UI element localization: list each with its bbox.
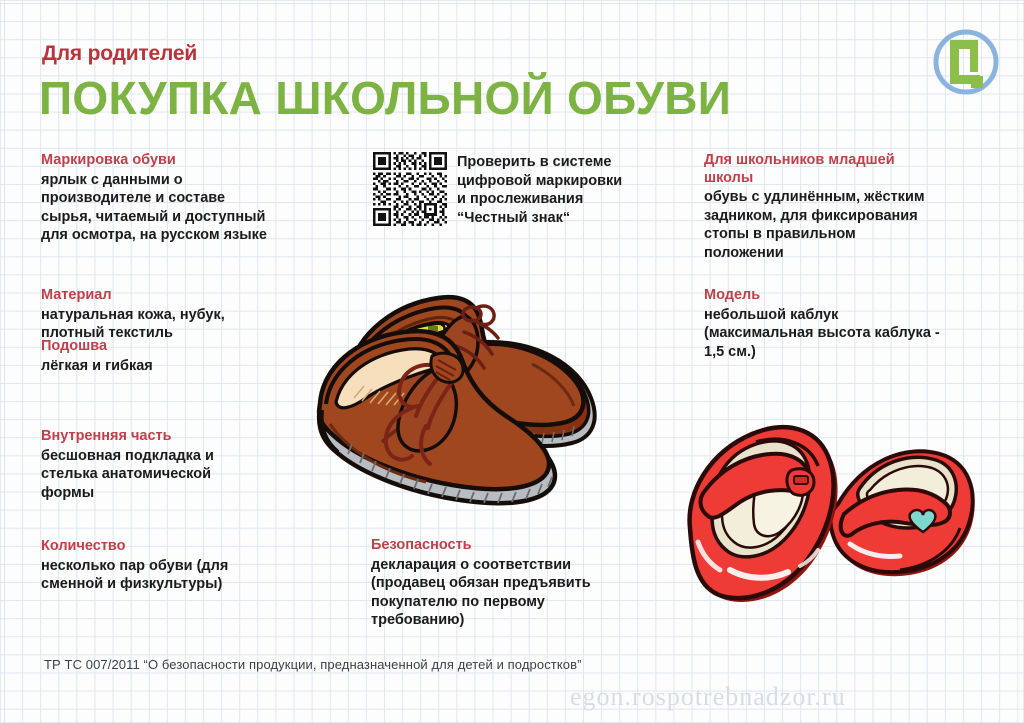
block-inner-part-body: бесшовная подкладка и стелька анатомичес…	[41, 447, 296, 503]
block-sole: Подошва лёгкая и гибкая	[41, 338, 306, 375]
block-model-title: Модель	[704, 287, 1004, 305]
block-safety-body: декларация о соответствии (продавец обяз…	[371, 556, 671, 630]
kicker-text: Для родителей	[42, 42, 197, 66]
block-quantity-body: несколько пар обуви (для сменной и физку…	[41, 557, 311, 594]
block-quantity: Количество несколько пар обуви (для смен…	[41, 538, 311, 594]
block-marking-title: Маркировка обуви	[41, 152, 341, 170]
qr-code-icon	[373, 152, 447, 226]
logo-icon	[930, 26, 1002, 98]
site-watermark: egon.rospotrebnadzor.ru	[570, 682, 846, 712]
block-marking: Маркировка обуви ярлык с данными о произ…	[41, 152, 341, 245]
brown-shoes-icon	[286, 258, 606, 516]
regulation-note: ТР ТС 007/2011 “О безопасности продукции…	[44, 657, 582, 672]
red-shoes-icon	[664, 404, 990, 632]
block-material-title: Материал	[41, 287, 306, 305]
block-safety: Безопасность декларация о соответствии (…	[371, 537, 671, 630]
red-mary-jane-shoes-illustration	[664, 404, 990, 632]
block-marking-body: ярлык с данными о производителе и состав…	[41, 171, 341, 245]
block-model: Модель небольшой каблук (максимальная вы…	[704, 287, 1004, 361]
block-sole-title: Подошва	[41, 338, 306, 356]
block-junior-school: Для школьников младшей школы обувь с удл…	[704, 152, 999, 262]
block-qr-caption-body: Проверить в системе цифровой маркировки …	[457, 153, 672, 227]
block-material: Материал натуральная кожа, нубук, плотны…	[41, 287, 306, 343]
block-qr-caption: Проверить в системе цифровой маркировки …	[457, 153, 672, 227]
block-sole-body: лёгкая и гибкая	[41, 357, 306, 376]
block-inner-part-title: Внутренняя часть	[41, 428, 296, 446]
page-title: ПОКУПКА ШКОЛЬНОЙ ОБУВИ	[39, 72, 731, 124]
block-quantity-title: Количество	[41, 538, 311, 556]
block-model-body: небольшой каблук (максимальная высота ка…	[704, 306, 1004, 362]
block-material-body: натуральная кожа, нубук, плотный текстил…	[41, 306, 306, 343]
block-junior-school-body: обувь с удлинённым, жёстким задником, дл…	[704, 188, 999, 262]
block-junior-school-title: Для школьников младшей школы	[704, 152, 999, 187]
block-inner-part: Внутренняя часть бесшовная подкладка и с…	[41, 428, 296, 502]
qr-code[interactable]	[373, 152, 447, 226]
organization-logo	[930, 26, 1002, 98]
infographic-poster: Для родителей ПОКУПКА ШКОЛЬНОЙ ОБУВИ Мар…	[0, 0, 1024, 723]
block-safety-title: Безопасность	[371, 537, 671, 555]
brown-school-shoes-illustration	[286, 258, 606, 516]
